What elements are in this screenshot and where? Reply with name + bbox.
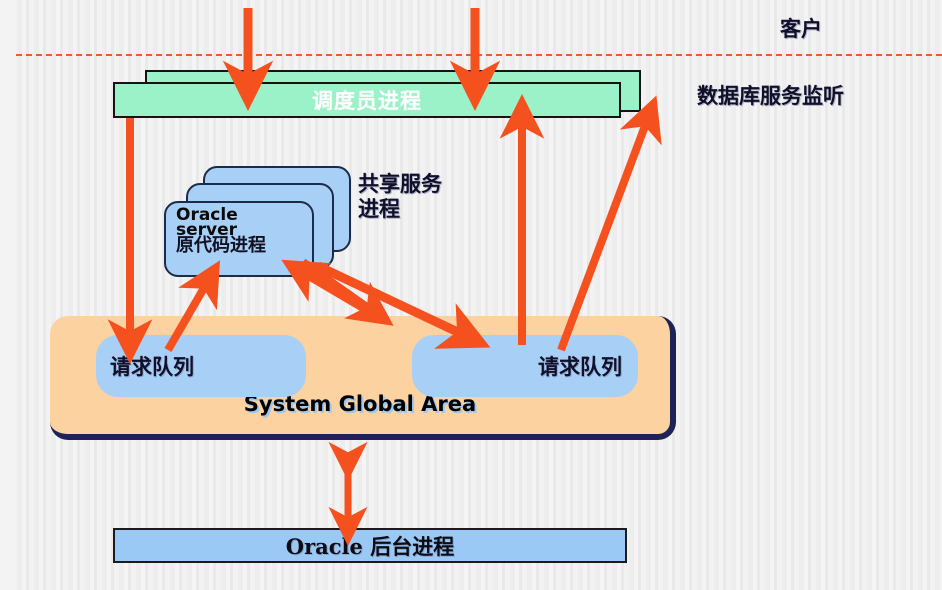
shared-server-box-text-cn: 原代码进程 bbox=[176, 231, 266, 257]
client-label: 客户 bbox=[780, 13, 822, 43]
arrow-sga-to-shared-server bbox=[302, 272, 380, 318]
diagram-canvas: 客户 数据库服务监听 调度员进程 Oracle server 原代码进程 共享服… bbox=[0, 0, 942, 590]
oracle-background-process-label: Oracle 后台进程 bbox=[286, 531, 454, 561]
database-listener-label: 数据库服务监听 bbox=[697, 80, 844, 110]
dispatcher-box: 调度员进程 bbox=[113, 82, 621, 118]
shared-server-box-1: Oracle server 原代码进程 bbox=[164, 201, 314, 277]
arrow-shared-server-to-sga-1 bbox=[303, 262, 374, 312]
request-queue-right-label: 请求队列 bbox=[538, 351, 622, 381]
request-queue-left: 请求队列 bbox=[96, 335, 306, 397]
request-queue-right: 请求队列 bbox=[412, 335, 638, 397]
client-server-separator bbox=[16, 54, 942, 56]
background-left-band bbox=[0, 0, 16, 590]
shared-server-caption: 共享服务 进程 bbox=[358, 171, 442, 221]
request-queue-left-label: 请求队列 bbox=[110, 351, 194, 381]
dispatcher-label: 调度员进程 bbox=[312, 85, 422, 115]
oracle-background-process-box: Oracle 后台进程 bbox=[113, 528, 627, 563]
